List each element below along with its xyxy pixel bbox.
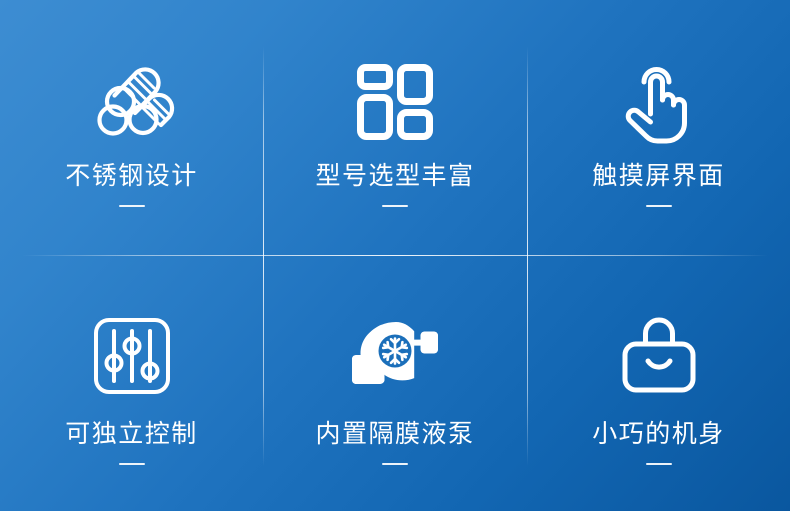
feature-cell-stainless-steel-design[interactable]: 不锈钢设计 (0, 0, 263, 255)
turbo-pump-icon (347, 308, 443, 404)
feature-label: 小巧的机身 (592, 422, 725, 447)
touch-hand-icon (611, 54, 707, 150)
feature-grid: 不锈钢设计 型号选型丰富 (0, 0, 790, 511)
feature-cell-rich-model-selection[interactable]: 型号选型丰富 (263, 0, 527, 255)
label-underline (119, 205, 145, 207)
feature-cell-compact-body[interactable]: 小巧的机身 (527, 255, 790, 511)
steel-pipes-icon (84, 54, 180, 150)
grid-blocks-icon (347, 54, 443, 150)
feature-cell-touchscreen-interface[interactable]: 触摸屏界面 (527, 0, 790, 255)
sliders-panel-icon (84, 308, 180, 404)
label-underline (646, 463, 672, 465)
feature-label: 可独立控制 (65, 422, 198, 447)
feature-cell-built-in-diaphragm-pump[interactable]: 内置隔膜液泵 (263, 255, 527, 511)
label-underline (646, 205, 672, 207)
label-underline (382, 205, 408, 207)
feature-cell-independent-control[interactable]: 可独立控制 (0, 255, 263, 511)
feature-label: 内置隔膜液泵 (315, 422, 474, 447)
feature-board: 不锈钢设计 型号选型丰富 (0, 0, 790, 511)
feature-label: 不锈钢设计 (65, 164, 198, 189)
feature-label: 型号选型丰富 (315, 164, 474, 189)
label-underline (382, 463, 408, 465)
handbag-smile-icon (611, 308, 707, 404)
feature-label: 触摸屏界面 (592, 164, 725, 189)
label-underline (119, 463, 145, 465)
